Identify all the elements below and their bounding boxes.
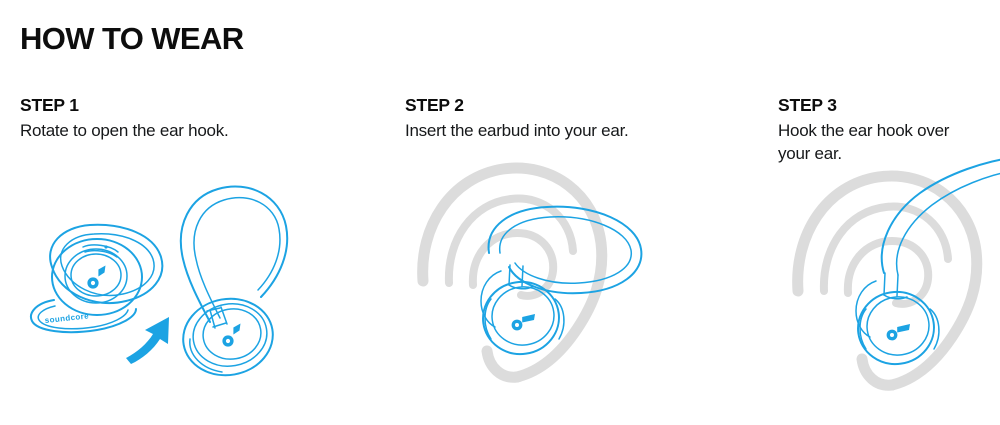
step-column-3: STEP 3 Hook the ear hook over your ear. [778,95,993,425]
step-3-heading: STEP 3 [778,95,993,116]
earbud-open-graphic [177,187,287,383]
earbud-closed-graphic: soundcore [31,225,162,332]
step-2-heading: STEP 2 [405,95,765,116]
rotate-arrow-icon [126,317,169,364]
step-3-illustration [780,143,1000,393]
earbud-inserted-graphic [478,207,641,359]
step-1-description: Rotate to open the ear hook. [20,119,390,142]
soundcore-logo-icon [87,266,105,289]
step-1-illustration: soundcore [14,153,374,363]
soundcore-brand-label: soundcore [44,311,89,325]
step-1-heading: STEP 1 [20,95,390,116]
soundcore-logo-icon [512,314,535,330]
soundcore-logo-icon [222,324,240,347]
page-title: HOW TO WEAR [20,22,244,56]
step-2-description: Insert the earbud into your ear. [405,119,765,142]
steps-container: STEP 1 Rotate to open the ear hook. [0,95,1000,425]
step-column-2: STEP 2 Insert the earbud into your ear. [405,95,765,425]
soundcore-logo-icon [887,324,910,340]
step-2-illustration [405,153,705,383]
step-column-1: STEP 1 Rotate to open the ear hook. [20,95,390,425]
